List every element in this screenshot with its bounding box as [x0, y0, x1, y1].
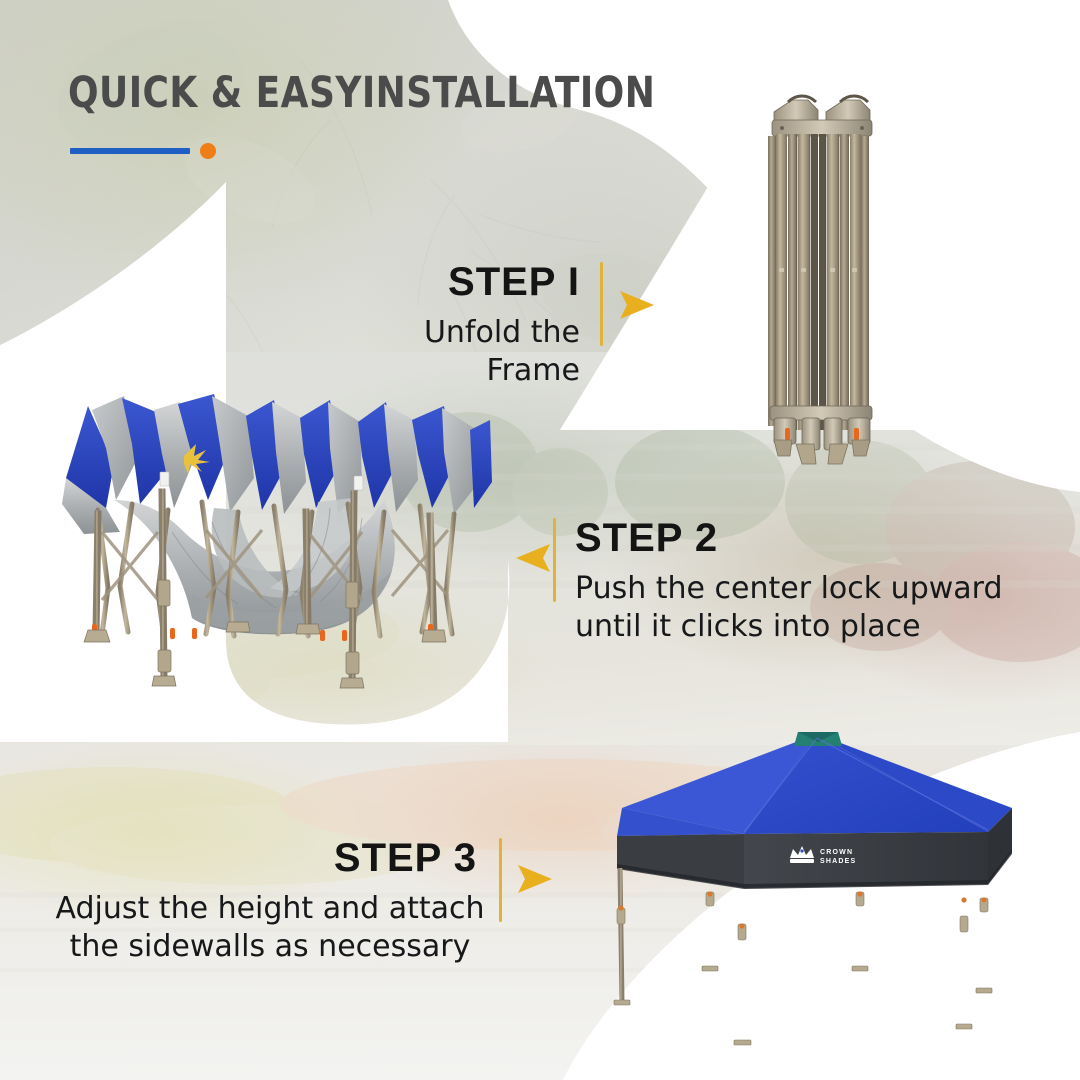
step-2-divider: [553, 518, 556, 602]
step-2-number: STEP 2: [575, 518, 1025, 558]
title-accent-bar: [70, 148, 190, 154]
partial-canopy-image: [62, 382, 492, 702]
assembled-canopy-image: CROWN SHADES: [592, 712, 1042, 1057]
step-2-description-line1: Push the center lock upward: [575, 570, 1025, 608]
arrow-right-icon: [516, 862, 556, 896]
step-3-block: STEP 3 Adjust the height and attach the …: [55, 838, 485, 967]
folded-frame-image: [752, 92, 892, 482]
infographic-canvas: QUICK & EASYINSTALLATION STEP I Unfold t…: [0, 0, 1080, 1080]
step-1-block: STEP I Unfold the Frame: [330, 262, 580, 391]
arrow-right-icon: [618, 288, 658, 322]
step-1-number: STEP I: [330, 262, 580, 302]
page-title: QUICK & EASYINSTALLATION: [68, 68, 655, 118]
brand-name-line1: CROWN: [820, 849, 853, 856]
step-3-description-line2: the sidewalls as necessary: [55, 928, 485, 966]
step-2-block: STEP 2 Push the center lock upward until…: [575, 518, 1025, 647]
step-3-divider: [499, 838, 502, 922]
step-3-description-line1: Adjust the height and attach: [55, 890, 485, 928]
step-1-description: Unfold the Frame: [330, 314, 580, 391]
brand-name-line2: SHADES: [820, 858, 856, 865]
title-accent-dot: [200, 143, 216, 159]
step-2-description-line2: until it clicks into place: [575, 608, 1025, 646]
step-1-divider: [600, 262, 603, 346]
step-3-number: STEP 3: [55, 838, 485, 878]
arrow-left-icon: [512, 541, 552, 575]
